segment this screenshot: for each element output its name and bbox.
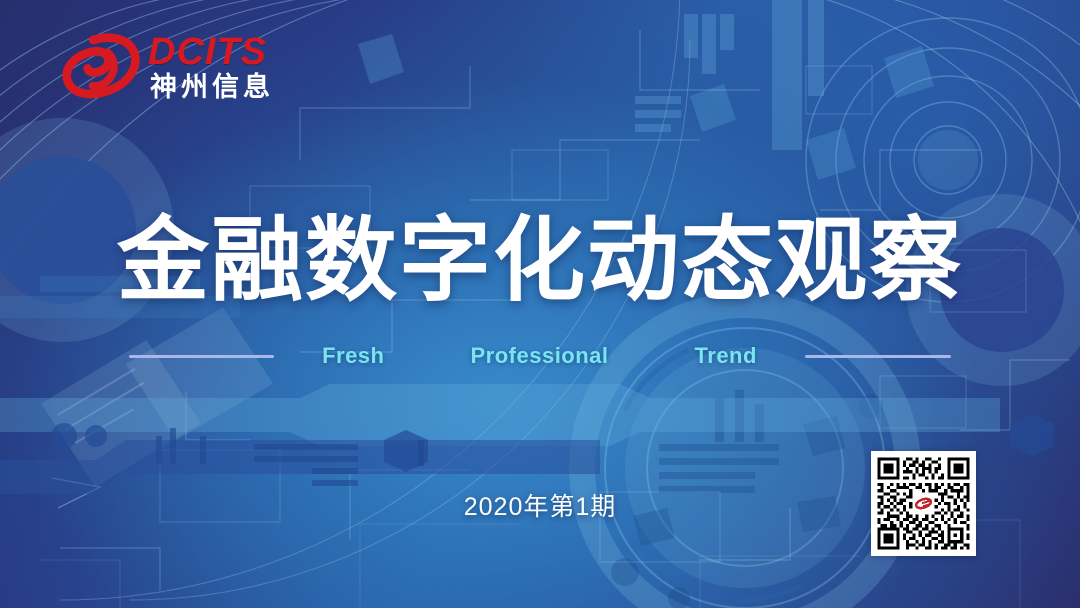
- qr-code[interactable]: [871, 451, 976, 556]
- divider-line-right: [805, 355, 951, 358]
- brand-name-cn: 神州信息: [150, 74, 274, 101]
- keyword-fresh: Fresh: [322, 343, 384, 369]
- keyword-trend: Trend: [695, 343, 757, 369]
- keyword-professional: Professional: [470, 343, 608, 369]
- brand-name-en: DCITS: [148, 33, 274, 71]
- divider-line-left: [129, 355, 274, 358]
- page-title: 金融数字化动态观察: [0, 186, 1080, 319]
- dcits-swirl-icon: [62, 26, 140, 108]
- brand-logo: DCITS 神州信息: [62, 26, 274, 108]
- poster-slide: DCITS 神州信息 金融数字化动态观察 Fresh Professional …: [0, 0, 1080, 608]
- qr-code-icon: [871, 451, 976, 556]
- tagline-row: Fresh Professional Trend: [0, 340, 1080, 372]
- brand-wordmark: DCITS 神州信息: [148, 33, 274, 101]
